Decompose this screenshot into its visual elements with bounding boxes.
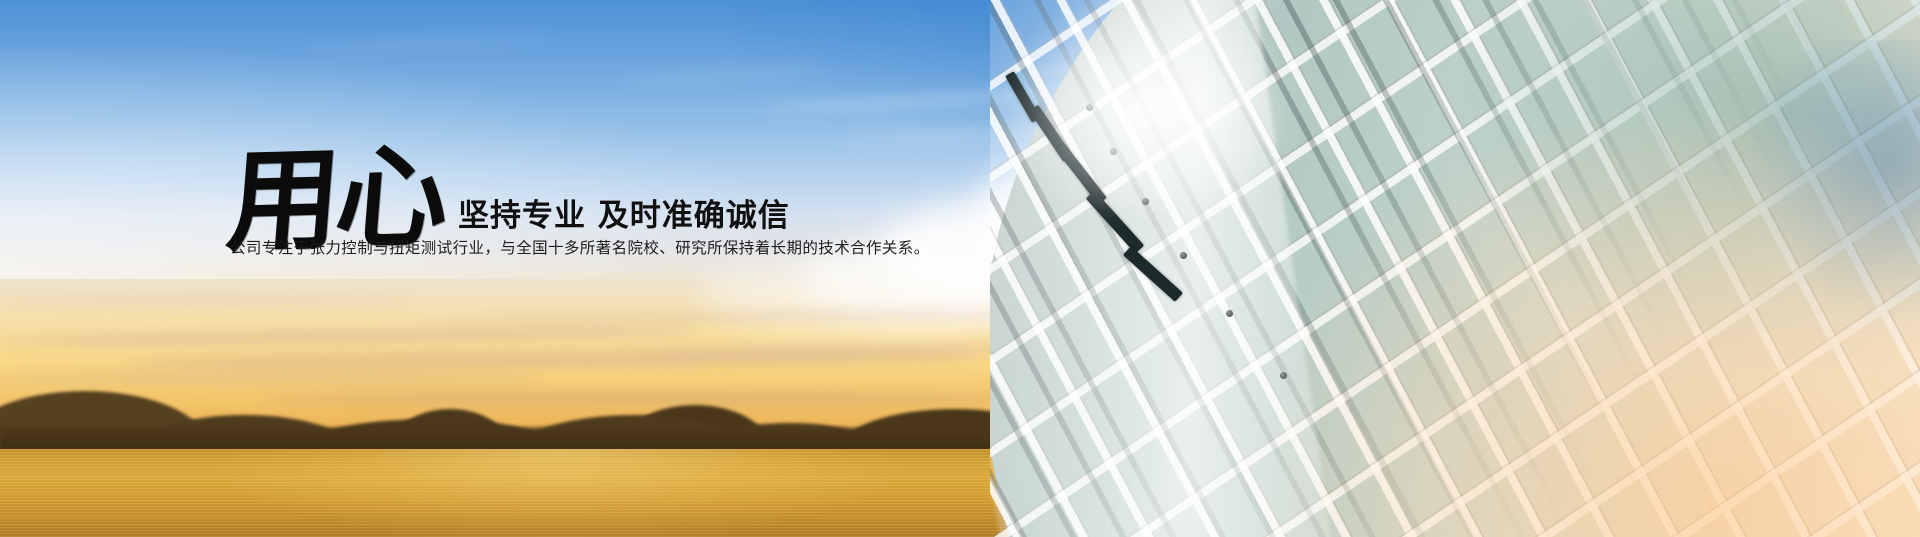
- facade-rivet: [1280, 372, 1287, 379]
- facade-rivet: [1226, 310, 1233, 317]
- banner-copy: 用心 坚持专业 及时准确诚信 公司专注于张力控制与扭矩测试行业，与全国十多所著名…: [0, 0, 1000, 537]
- hero-banner: 用心 坚持专业 及时准确诚信 公司专注于张力控制与扭矩测试行业，与全国十多所著名…: [0, 0, 1920, 537]
- facade-rivet: [1180, 252, 1187, 259]
- description-text: 公司专注于张力控制与扭矩测试行业，与全国十多所著名院校、研究所保持着长期的技术合…: [230, 236, 930, 258]
- sun-glow: [940, 0, 1360, 210]
